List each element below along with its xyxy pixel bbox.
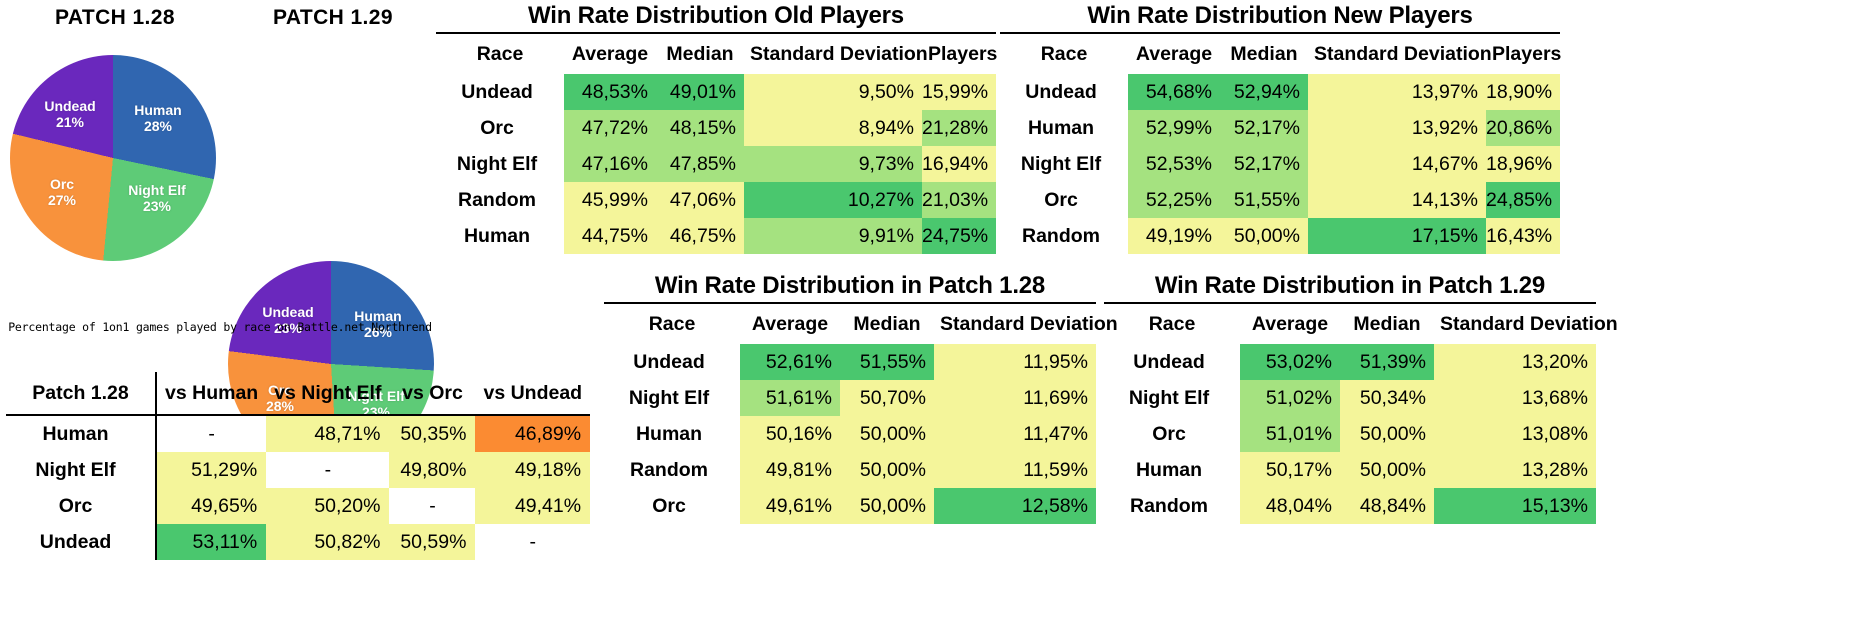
dist-cell: 13,97% [1308, 74, 1486, 110]
dist-cell: 45,99% [564, 182, 656, 218]
dist-race-label: Night Elf [1104, 380, 1240, 416]
matchup-header-row: Patch 1.28vs Humanvs Night Elfvs Orcvs U… [6, 372, 590, 415]
dist-cell: 16,43% [1486, 218, 1560, 254]
dist-cell: 18,90% [1486, 74, 1560, 110]
dist-title-patch-128: Win Rate Distribution in Patch 1.28 [604, 272, 1096, 300]
table-row: Human50,16%50,00%11,47% [604, 416, 1096, 452]
dist-title-old-players: Win Rate Distribution Old Players [436, 2, 996, 30]
dist-race-label: Orc [436, 110, 564, 146]
dist-cell: 52,53% [1128, 146, 1220, 182]
dist-cell: 50,17% [1240, 452, 1340, 488]
matchup-cell: 53,11% [156, 524, 266, 560]
dist-cell: 21,03% [922, 182, 996, 218]
table-row: Night Elf47,16%47,85%9,73%16,94% [436, 146, 996, 182]
table-row: Random45,99%47,06%10,27%21,03% [436, 182, 996, 218]
matchup-cell: - [389, 488, 475, 524]
dist-cell: 51,02% [1240, 380, 1340, 416]
table-row: Undead53,02%51,39%13,20% [1104, 344, 1596, 380]
dist-race-label: Random [436, 182, 564, 218]
infographic-root: PATCH 1.28 PATCH 1.29 Undead21% Human28%… [0, 0, 1849, 628]
dist-cell: 13,28% [1434, 452, 1596, 488]
dist-cell: 47,72% [564, 110, 656, 146]
pie-slice-label-orc-128: Orc27% [24, 177, 100, 208]
dist-cell: 13,92% [1308, 110, 1486, 146]
dist-col-header: Average [740, 304, 840, 344]
dist-col-header: Average [1240, 304, 1340, 344]
dist-cell: 20,86% [1486, 110, 1560, 146]
matchup-cell: 50,20% [266, 488, 389, 524]
dist-cell: 11,69% [934, 380, 1096, 416]
table-row: Night Elf51,02%50,34%13,68% [1104, 380, 1596, 416]
dist-cell: 18,96% [1486, 146, 1560, 182]
pie-title-patch-128: PATCH 1.28 [10, 6, 220, 30]
dist-cell: 17,15% [1308, 218, 1486, 254]
dist-race-label: Night Elf [436, 146, 564, 182]
dist-cell: 9,50% [744, 74, 922, 110]
matchup-corner-label: Patch 1.28 [6, 372, 156, 415]
matchup-cell: 48,71% [266, 415, 389, 452]
dist-table-patch-128: Win Rate Distribution in Patch 1.28 Race… [604, 272, 1096, 524]
matchup-col-header: vs Undead [475, 372, 590, 415]
dist-cell: 10,27% [744, 182, 922, 218]
pie-chart-patch-128: Undead21% Human28% Orc27% Night Elf23% [10, 55, 216, 261]
matchup-cell: 46,89% [475, 415, 590, 452]
dist-cell: 15,99% [922, 74, 996, 110]
dist-cell: 44,75% [564, 218, 656, 254]
table-row: Orc51,01%50,00%13,08% [1104, 416, 1596, 452]
dist-cell: 48,15% [656, 110, 744, 146]
dist-race-label: Random [604, 452, 740, 488]
dist-header-row: RaceAverageMedianStandard Deviation [1104, 304, 1596, 344]
dist-col-header: Standard Deviation [744, 34, 922, 74]
pie-caption: Percentage of 1on1 games played by race … [0, 320, 440, 334]
dist-header-row: RaceAverageMedianStandard Deviation [604, 304, 1096, 344]
table-row: Night Elf52,53%52,17%14,67%18,96% [1000, 146, 1560, 182]
matchup-cell: - [156, 415, 266, 452]
dist-cell: 49,61% [740, 488, 840, 524]
dist-cell: 52,17% [1220, 110, 1308, 146]
dist-col-header: Median [1340, 304, 1434, 344]
dist-cell: 49,01% [656, 74, 744, 110]
dist-cell: 13,20% [1434, 344, 1596, 380]
dist-cell: 47,85% [656, 146, 744, 182]
dist-header-row: RaceAverageMedianStandard DeviationPlaye… [1000, 34, 1560, 74]
dist-race-label: Night Elf [1000, 146, 1128, 182]
matchup-col-header: vs Night Elf [266, 372, 389, 415]
matchup-cell: 49,80% [389, 452, 475, 488]
pie-chart-panel: PATCH 1.28 PATCH 1.29 Undead21% Human28%… [0, 0, 440, 360]
table-row: Orc49,65%50,20%-49,41% [6, 488, 590, 524]
pie-slice-label-nightelf-128: Night Elf23% [114, 183, 200, 214]
dist-col-header: Race [1104, 304, 1240, 344]
dist-cell: 8,94% [744, 110, 922, 146]
dist-col-header: Standard Deviation [934, 304, 1096, 344]
dist-cell: 51,55% [840, 344, 934, 380]
matchup-cell: 50,59% [389, 524, 475, 560]
table-row: Undead53,11%50,82%50,59%- [6, 524, 590, 560]
matchup-row-header: Orc [6, 488, 156, 524]
table-row: Random49,19%50,00%17,15%16,43% [1000, 218, 1560, 254]
dist-cell: 24,75% [922, 218, 996, 254]
dist-cell: 24,85% [1486, 182, 1560, 218]
dist-race-label: Random [1104, 488, 1240, 524]
matchup-row-header: Night Elf [6, 452, 156, 488]
dist-cell: 50,00% [840, 488, 934, 524]
dist-cell: 50,00% [1340, 416, 1434, 452]
table-row: Human-48,71%50,35%46,89% [6, 415, 590, 452]
dist-cell: 51,55% [1220, 182, 1308, 218]
dist-cell: 52,17% [1220, 146, 1308, 182]
dist-col-header: Average [1128, 34, 1220, 74]
dist-table: RaceAverageMedianStandard DeviationPlaye… [1000, 34, 1560, 254]
dist-col-header: Median [656, 34, 744, 74]
dist-col-header: Median [840, 304, 934, 344]
dist-col-header: Standard Deviation [1434, 304, 1596, 344]
dist-cell: 51,61% [740, 380, 840, 416]
dist-cell: 50,00% [1220, 218, 1308, 254]
dist-cell: 49,81% [740, 452, 840, 488]
dist-col-header: Median [1220, 34, 1308, 74]
dist-race-label: Random [1000, 218, 1128, 254]
dist-col-header: Race [604, 304, 740, 344]
matchup-table-patch-128: Patch 1.28vs Humanvs Night Elfvs Orcvs U… [6, 372, 590, 560]
dist-col-header: Players [1486, 34, 1560, 74]
dist-cell: 48,04% [1240, 488, 1340, 524]
table-row: Undead52,61%51,55%11,95% [604, 344, 1096, 380]
dist-col-header: Race [1000, 34, 1128, 74]
dist-race-label: Undead [436, 74, 564, 110]
matchup-table: Patch 1.28vs Humanvs Night Elfvs Orcvs U… [6, 372, 590, 560]
dist-cell: 9,73% [744, 146, 922, 182]
table-row: Human44,75%46,75%9,91%24,75% [436, 218, 996, 254]
pie-slice-label-human-128: Human28% [118, 103, 198, 134]
dist-cell: 48,53% [564, 74, 656, 110]
matchup-col-header: vs Orc [389, 372, 475, 415]
dist-cell: 48,84% [1340, 488, 1434, 524]
dist-col-header: Standard Deviation [1308, 34, 1486, 74]
dist-cell: 16,94% [922, 146, 996, 182]
dist-race-label: Night Elf [604, 380, 740, 416]
matchup-cell: 50,35% [389, 415, 475, 452]
dist-table-new-players: Win Rate Distribution New Players RaceAv… [1000, 2, 1560, 254]
dist-cell: 51,01% [1240, 416, 1340, 452]
table-row: Random49,81%50,00%11,59% [604, 452, 1096, 488]
dist-cell: 53,02% [1240, 344, 1340, 380]
dist-col-header: Players [922, 34, 996, 74]
pie-slice-label-undead-128: Undead21% [26, 99, 114, 130]
dist-cell: 52,94% [1220, 74, 1308, 110]
pie-title-patch-129: PATCH 1.29 [228, 6, 438, 30]
matchup-cell: - [475, 524, 590, 560]
dist-cell: 11,47% [934, 416, 1096, 452]
matchup-cell: 51,29% [156, 452, 266, 488]
dist-cell: 14,13% [1308, 182, 1486, 218]
dist-col-header: Average [564, 34, 656, 74]
matchup-cell: 50,82% [266, 524, 389, 560]
dist-cell: 13,08% [1434, 416, 1596, 452]
table-row: Undead54,68%52,94%13,97%18,90% [1000, 74, 1560, 110]
dist-cell: 9,91% [744, 218, 922, 254]
dist-cell: 49,19% [1128, 218, 1220, 254]
matchup-cell: 49,65% [156, 488, 266, 524]
dist-title-new-players: Win Rate Distribution New Players [1000, 2, 1560, 30]
dist-race-label: Undead [1104, 344, 1240, 380]
matchup-row-header: Undead [6, 524, 156, 560]
dist-title-patch-129: Win Rate Distribution in Patch 1.29 [1104, 272, 1596, 300]
dist-cell: 11,59% [934, 452, 1096, 488]
dist-cell: 50,34% [1340, 380, 1434, 416]
table-row: Night Elf51,29%-49,80%49,18% [6, 452, 590, 488]
table-row: Random48,04%48,84%15,13% [1104, 488, 1596, 524]
dist-cell: 13,68% [1434, 380, 1596, 416]
matchup-cell: 49,41% [475, 488, 590, 524]
dist-race-label: Orc [1104, 416, 1240, 452]
dist-table: RaceAverageMedianStandard DeviationUndea… [1104, 304, 1596, 524]
dist-cell: 51,39% [1340, 344, 1434, 380]
dist-header-row: RaceAverageMedianStandard DeviationPlaye… [436, 34, 996, 74]
table-row: Night Elf51,61%50,70%11,69% [604, 380, 1096, 416]
dist-cell: 50,70% [840, 380, 934, 416]
dist-cell: 47,06% [656, 182, 744, 218]
dist-race-label: Undead [604, 344, 740, 380]
matchup-cell: - [266, 452, 389, 488]
table-row: Human52,99%52,17%13,92%20,86% [1000, 110, 1560, 146]
dist-cell: 50,00% [840, 416, 934, 452]
dist-race-label: Human [1104, 452, 1240, 488]
dist-cell: 46,75% [656, 218, 744, 254]
table-row: Orc47,72%48,15%8,94%21,28% [436, 110, 996, 146]
dist-race-label: Orc [1000, 182, 1128, 218]
dist-race-label: Undead [1000, 74, 1128, 110]
matchup-row-header: Human [6, 415, 156, 452]
dist-cell: 21,28% [922, 110, 996, 146]
dist-race-label: Human [604, 416, 740, 452]
dist-race-label: Human [1000, 110, 1128, 146]
dist-table-patch-129: Win Rate Distribution in Patch 1.29 Race… [1104, 272, 1596, 524]
dist-cell: 54,68% [1128, 74, 1220, 110]
dist-col-header: Race [436, 34, 564, 74]
table-row: Orc49,61%50,00%12,58% [604, 488, 1096, 524]
dist-cell: 52,25% [1128, 182, 1220, 218]
table-row: Orc52,25%51,55%14,13%24,85% [1000, 182, 1560, 218]
dist-table: RaceAverageMedianStandard DeviationPlaye… [436, 34, 996, 254]
dist-cell: 12,58% [934, 488, 1096, 524]
dist-cell: 52,99% [1128, 110, 1220, 146]
matchup-cell: 49,18% [475, 452, 590, 488]
dist-table-old-players: Win Rate Distribution Old Players RaceAv… [436, 2, 996, 254]
table-row: Human50,17%50,00%13,28% [1104, 452, 1596, 488]
dist-cell: 14,67% [1308, 146, 1486, 182]
dist-cell: 50,16% [740, 416, 840, 452]
dist-cell: 50,00% [1340, 452, 1434, 488]
dist-cell: 11,95% [934, 344, 1096, 380]
table-row: Undead48,53%49,01%9,50%15,99% [436, 74, 996, 110]
dist-race-label: Orc [604, 488, 740, 524]
dist-cell: 52,61% [740, 344, 840, 380]
dist-cell: 47,16% [564, 146, 656, 182]
matchup-col-header: vs Human [156, 372, 266, 415]
dist-cell: 50,00% [840, 452, 934, 488]
dist-cell: 15,13% [1434, 488, 1596, 524]
dist-race-label: Human [436, 218, 564, 254]
dist-table: RaceAverageMedianStandard DeviationUndea… [604, 304, 1096, 524]
